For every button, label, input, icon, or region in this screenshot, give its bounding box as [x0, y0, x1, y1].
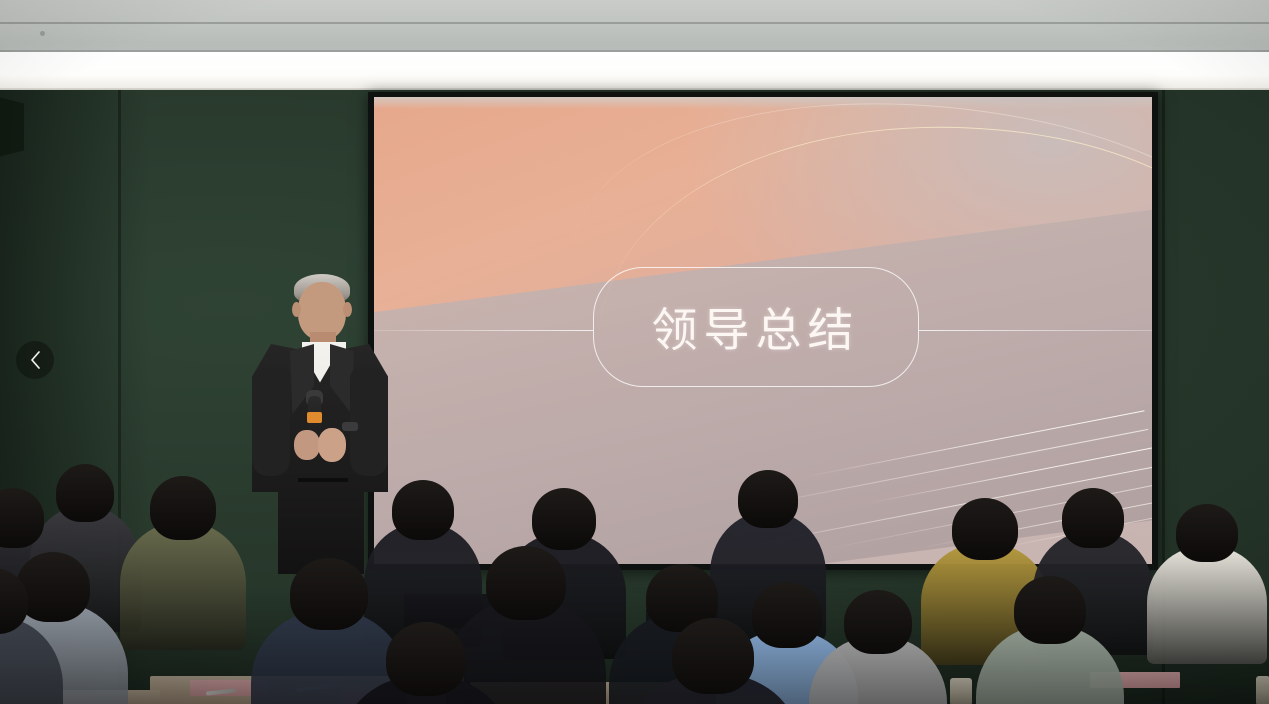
attendee-9-head [1176, 504, 1238, 562]
ceiling-seam [0, 22, 1269, 24]
attendee-17-head [672, 618, 754, 694]
attendee-12-head [290, 558, 368, 630]
attendee-5-head [532, 488, 596, 550]
chevron-left-icon [29, 350, 42, 370]
attendee-16-head [844, 590, 912, 654]
title-rule-right [919, 330, 1153, 331]
attendee-1-head [0, 488, 44, 548]
ceiling-light-strip [0, 52, 1269, 90]
attendee-6-head [738, 470, 798, 528]
audience [0, 440, 1269, 704]
presenter-wristwatch [342, 422, 358, 431]
attendee-18-head [1014, 576, 1086, 644]
slide-title-pill: 领导总结 [593, 267, 919, 387]
ceiling [0, 0, 1269, 52]
presenter-ear-right [343, 302, 352, 317]
attendee-13-head [486, 546, 566, 620]
presenter-ear-left [292, 302, 301, 317]
attendee-3-head [150, 476, 216, 540]
attendee-8-head [1062, 488, 1124, 548]
attendee-19-head [386, 622, 466, 696]
attendee-15-head [752, 582, 822, 648]
attendee-9-body [1147, 546, 1267, 664]
attendee-3-body [120, 522, 246, 650]
microphone-orange-band [307, 412, 322, 423]
previous-image-button[interactable] [16, 341, 54, 379]
screen-roller-housing [368, 92, 1158, 97]
attendee-7-head [952, 498, 1018, 560]
title-rule-left [374, 330, 593, 331]
attendee-4-head [392, 480, 454, 540]
presentation-photo: 领导总结 [0, 0, 1269, 704]
wall-mounted-speaker [0, 96, 24, 158]
attendee-2-head [56, 464, 114, 522]
ceiling-screw [40, 31, 45, 36]
slide-title: 领导总结 [652, 294, 860, 360]
